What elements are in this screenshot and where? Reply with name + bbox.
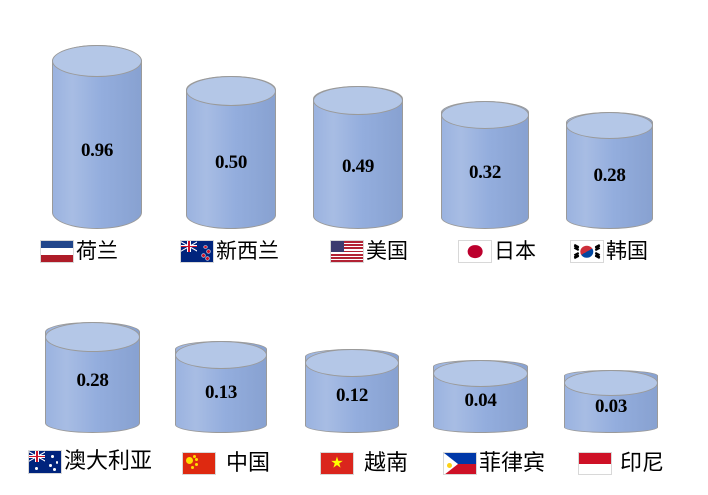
cylinder-bar[interactable]: 0.49 (313, 86, 403, 229)
cylinder-bar[interactable]: 0.28 (45, 322, 140, 433)
bar-value-label: 0.28 (45, 370, 140, 392)
cylinder-top-ellipse (441, 101, 529, 129)
legend-item-australia[interactable]: 澳大利亚 (28, 450, 152, 474)
bar-value-label: 0.03 (564, 396, 658, 418)
cylinder-bar[interactable]: 0.12 (305, 349, 399, 433)
bar-value-label: 0.12 (305, 385, 399, 407)
cylinder-top-ellipse (186, 76, 276, 106)
flag-netherlands-icon (40, 240, 74, 263)
legend-label: 日本 (492, 241, 536, 262)
legend-item-philippines[interactable]: 菲律宾 (443, 452, 545, 475)
cylinder-top-ellipse (564, 370, 658, 396)
bar-value-label: 0.28 (566, 165, 653, 187)
bar-value-label: 0.96 (52, 140, 142, 162)
legend-label: 菲律宾 (477, 453, 545, 475)
cylinder-top-ellipse (433, 360, 528, 387)
flag-philippines-icon (443, 452, 477, 475)
cylinder-bar[interactable]: 0.32 (441, 101, 529, 229)
cylinder-bar[interactable]: 0.03 (564, 370, 658, 433)
bar-value-label: 0.50 (186, 152, 276, 174)
bar-value-label: 0.49 (313, 156, 403, 178)
legend-item-vietnam[interactable]: ★ 越南 (320, 452, 408, 475)
legend-label: 美国 (364, 241, 408, 262)
flag-south-korea-icon (570, 240, 604, 263)
legend-label: 新西兰 (214, 241, 279, 262)
flag-vietnam-icon: ★ (320, 452, 354, 475)
legend-item-south-korea[interactable]: 韩国 (570, 240, 648, 263)
cylinder-top-ellipse (313, 86, 403, 115)
bar-value-label: 0.32 (441, 162, 529, 184)
cylinder-top-ellipse (45, 322, 140, 352)
bar-value-label: 0.13 (175, 382, 267, 404)
flag-united-states-icon (330, 240, 364, 263)
legend-item-china[interactable]: 中国 (182, 452, 270, 475)
legend-item-japan[interactable]: 日本 (458, 240, 536, 263)
cylinder-top-ellipse (305, 349, 399, 377)
cylinder-bar[interactable]: 0.50 (186, 76, 276, 229)
legend-item-indonesia[interactable]: 印尼 (578, 452, 664, 475)
flag-japan-icon (458, 240, 492, 263)
flag-indonesia-icon (578, 452, 612, 475)
legend-label: 韩国 (604, 241, 648, 262)
bar-value-label: 0.04 (433, 390, 528, 412)
flag-australia-icon (28, 450, 62, 474)
cylinder-top-ellipse (52, 45, 142, 77)
flag-china-icon (182, 452, 216, 475)
legend-item-united-states[interactable]: 美国 (330, 240, 408, 263)
legend-label: 越南 (354, 453, 408, 475)
legend-item-new-zealand[interactable]: 新西兰 (180, 240, 279, 263)
legend-label: 印尼 (612, 453, 664, 475)
cylinder-top-ellipse (175, 341, 267, 369)
flag-new-zealand-icon (180, 240, 214, 263)
cylinder-bar[interactable]: 0.13 (175, 341, 267, 433)
cylinder-bar[interactable]: 0.96 (52, 45, 142, 229)
legend-label: 中国 (216, 453, 270, 475)
legend-label: 澳大利亚 (62, 451, 152, 473)
cylinder-top-ellipse (566, 112, 653, 139)
legend-item-netherlands[interactable]: 荷兰 (40, 240, 118, 263)
cylinder-bar[interactable]: 0.04 (433, 360, 528, 433)
legend-label: 荷兰 (74, 241, 118, 262)
cylinder-bar-chart: 0.96 0.50 0.49 0.32 0.28 荷兰 新 (0, 0, 708, 495)
cylinder-bar[interactable]: 0.28 (566, 112, 653, 229)
